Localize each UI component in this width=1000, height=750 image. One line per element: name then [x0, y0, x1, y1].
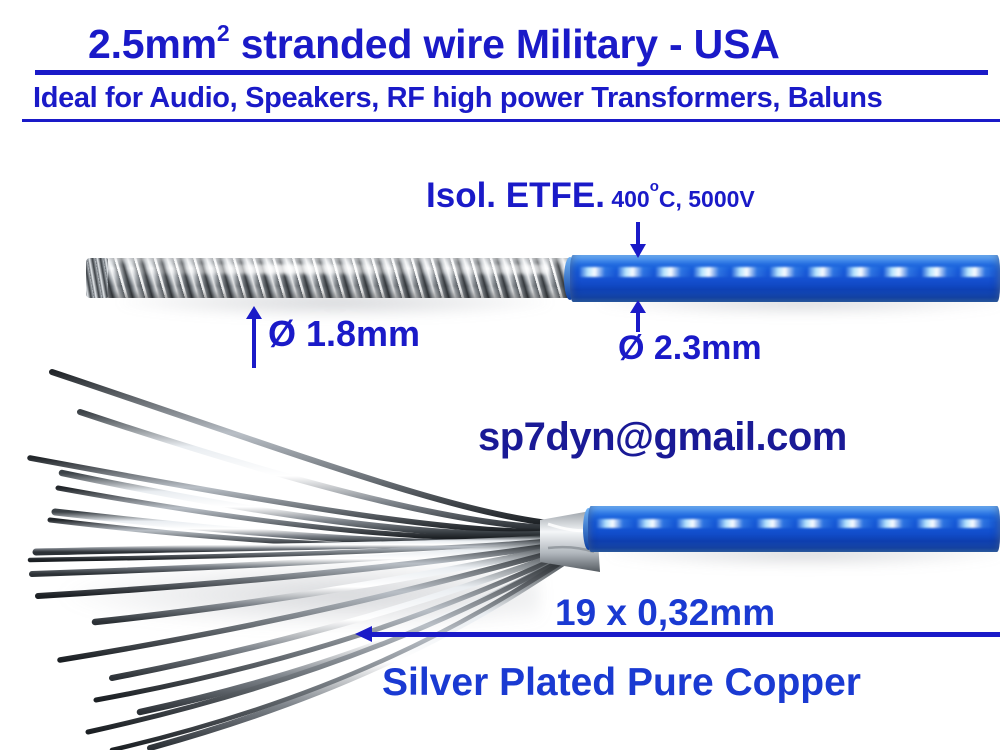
insulation-body-bottom: [588, 506, 1000, 552]
conductor-highlight: [125, 264, 548, 274]
strand-group-upper: [30, 372, 576, 546]
insulation-jacket-photo-bottom: [588, 506, 1000, 552]
header-divider-bottom: [22, 119, 1000, 122]
arrow-down-icon: [630, 222, 646, 258]
conductor-cut-end: [86, 258, 108, 298]
header-divider-top: [35, 70, 988, 75]
arrow-head: [630, 244, 646, 258]
insulation-body-top: [570, 255, 1000, 302]
page-title: 2.5mm2 stranded wire Military - USA: [88, 24, 780, 65]
insulation-label-unit: C, 5000V: [659, 186, 755, 212]
insulation-label-main: Isol. ETFE.: [426, 176, 605, 215]
title-main: 2.5mm: [88, 21, 217, 67]
insulation-highlight-bottom: [596, 519, 996, 528]
stranded-conductor-photo: [86, 258, 578, 298]
material-label: Silver Plated Pure Copper: [382, 663, 861, 702]
arrow-left-icon: [355, 626, 1000, 643]
title-rest: stranded wire Military - USA: [230, 21, 780, 67]
arrow-up-icon: [246, 306, 262, 368]
insulation-label-temp: 400: [611, 186, 649, 212]
product-infographic: 2.5mm2 stranded wire Military - USA Idea…: [0, 0, 1000, 750]
insulation-highlight-top: [579, 267, 996, 276]
arrow-up-icon: [630, 300, 646, 332]
conductor-diameter-label: Ø 1.8mm: [268, 316, 420, 352]
insulation-jacket-photo-top: [570, 255, 1000, 302]
title-superscript: 2: [217, 20, 230, 46]
degree-symbol: o: [650, 178, 659, 195]
overall-diameter-label: Ø 2.3mm: [618, 331, 762, 365]
subtitle: Ideal for Audio, Speakers, RF high power…: [33, 84, 882, 113]
arrow-shaft: [636, 222, 640, 246]
arrow-shaft: [369, 632, 1000, 637]
insulation-label: Isol. ETFE. 400oC, 5000V: [426, 178, 755, 213]
